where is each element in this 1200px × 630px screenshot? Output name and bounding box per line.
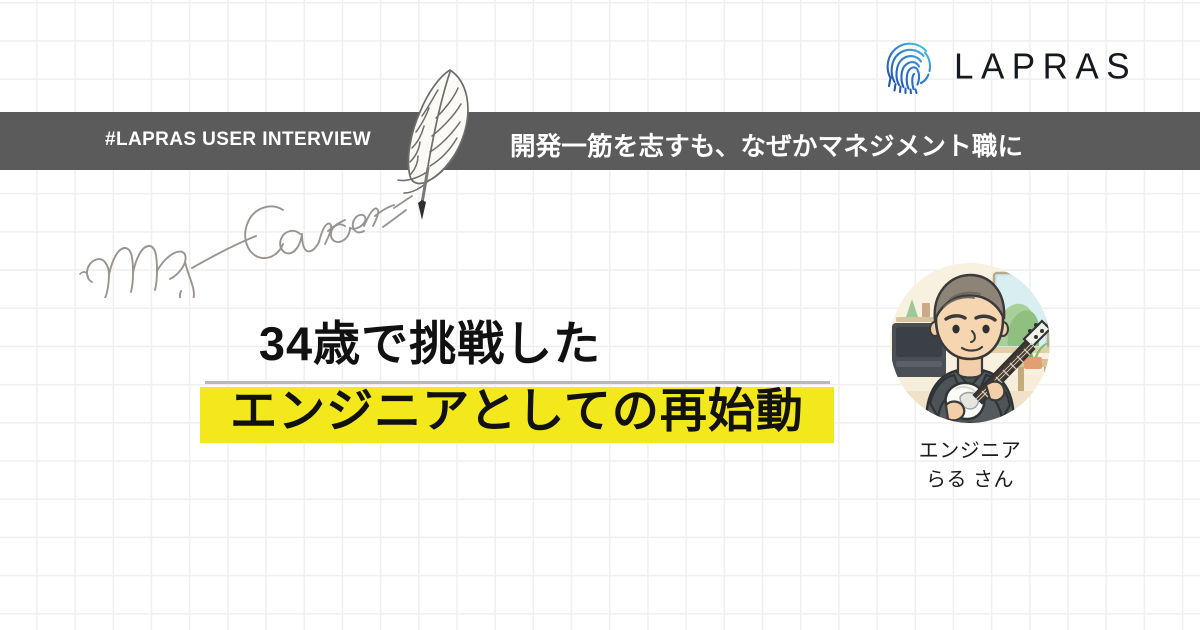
profile-name: らる さん: [890, 466, 1050, 495]
my-career-script: [78, 178, 478, 298]
title-line-1: 34歳で挑戦した: [0, 318, 860, 371]
banner-tag-label: #LAPRAS USER INTERVIEW: [105, 129, 371, 151]
fingerprint-head-icon: [884, 38, 936, 94]
lapras-wordmark: LAPRAS: [954, 48, 1137, 84]
banner-headline: 開発一筋を志すも、なぜかマネジメント職に: [510, 126, 1023, 163]
profile-caption: エンジニア らる さん: [890, 437, 1050, 495]
profile-block: エンジニア らる さん: [890, 263, 1050, 495]
poster-canvas: LAPRAS #LAPRAS USER INTERVIEW 開発一筋を志すも、な…: [0, 0, 1200, 630]
title-line-2-wrapper: エンジニアとしての再始動: [0, 381, 860, 443]
avatar-man-playing-guitar: [890, 263, 1050, 423]
lapras-logo[interactable]: LAPRAS: [884, 38, 1137, 94]
title-line-2: エンジニアとしての再始動: [0, 383, 1034, 439]
poster-title: 34歳で挑戦した エンジニアとしての再始動: [0, 318, 860, 443]
profile-role: エンジニア: [890, 437, 1050, 466]
